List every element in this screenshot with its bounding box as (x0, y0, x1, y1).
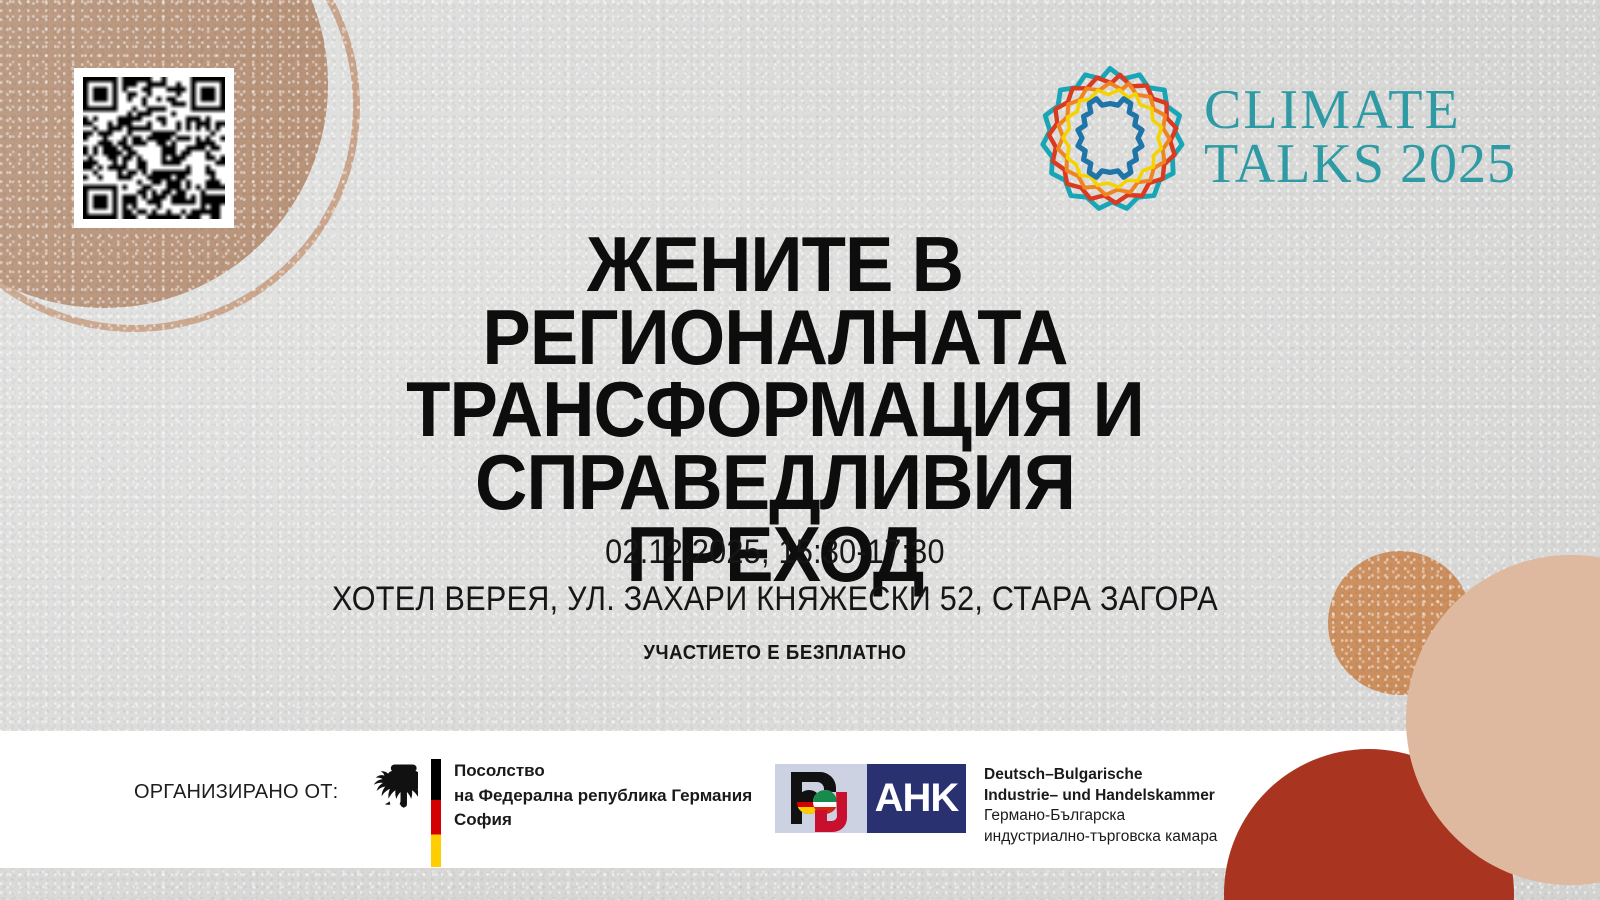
german-flag-bar (431, 759, 441, 867)
ahk-monogram-box (775, 764, 867, 833)
event-datetime: 02.12.2025, 15:30-17:30 (321, 531, 1230, 574)
ahk-line-3: Германо-Българска (984, 806, 1217, 827)
embassy-line-2: на Федерална република Германия (454, 784, 752, 809)
bg-monogram-icon (775, 764, 867, 833)
ahk-line-2: Industrie– und Handelskammer (984, 786, 1217, 807)
climate-talks-mark-icon (1030, 58, 1190, 218)
organized-by-label: ОРГАНИЗИРАНО ОТ: (134, 781, 338, 804)
ahk-line-1: Deutsch–Bulgarische (984, 765, 1217, 786)
ahk-line-4: индустриално-търговска камара (984, 827, 1217, 848)
wordmark-line-1: CLIMATE (1204, 84, 1516, 138)
ahk-logo-block: AHK (775, 764, 966, 833)
wordmark-line-2: TALKS 2025 (1204, 138, 1516, 192)
event-poster: CLIMATE TALKS 2025 ЖЕНИТЕ В РЕГИОНАЛНАТА… (0, 0, 1600, 900)
ahk-acronym: AHK (867, 764, 966, 833)
embassy-name: Посолство на Федерална република Германи… (454, 759, 752, 833)
german-embassy-logo: Посолство на Федерална република Германи… (372, 755, 752, 867)
ahk-name: Deutsch–Bulgarische Industrie– und Hande… (984, 764, 1217, 847)
event-free-notice: УЧАСТИЕТО Е БЕЗПЛАТНО (305, 642, 1244, 665)
qr-code-image (83, 77, 225, 219)
embassy-line-1: Посолство (454, 759, 752, 784)
embassy-line-3: София (454, 808, 752, 833)
bundesadler-eagle-icon (372, 761, 418, 813)
climate-talks-wordmark: CLIMATE TALKS 2025 (1204, 84, 1516, 192)
ahk-logo: AHK Deutsch–Bulgarische Industrie– und H… (775, 764, 1217, 847)
qr-code[interactable] (74, 68, 234, 228)
event-details: 02.12.2025, 15:30-17:30 ХОТЕЛ ВЕРЕЯ, УЛ.… (270, 531, 1280, 665)
climate-talks-logo: CLIMATE TALKS 2025 (1030, 58, 1516, 218)
event-venue: ХОТЕЛ ВЕРЕЯ, УЛ. ЗАХАРИ КНЯЖЕСКИ 52, СТА… (321, 578, 1230, 621)
